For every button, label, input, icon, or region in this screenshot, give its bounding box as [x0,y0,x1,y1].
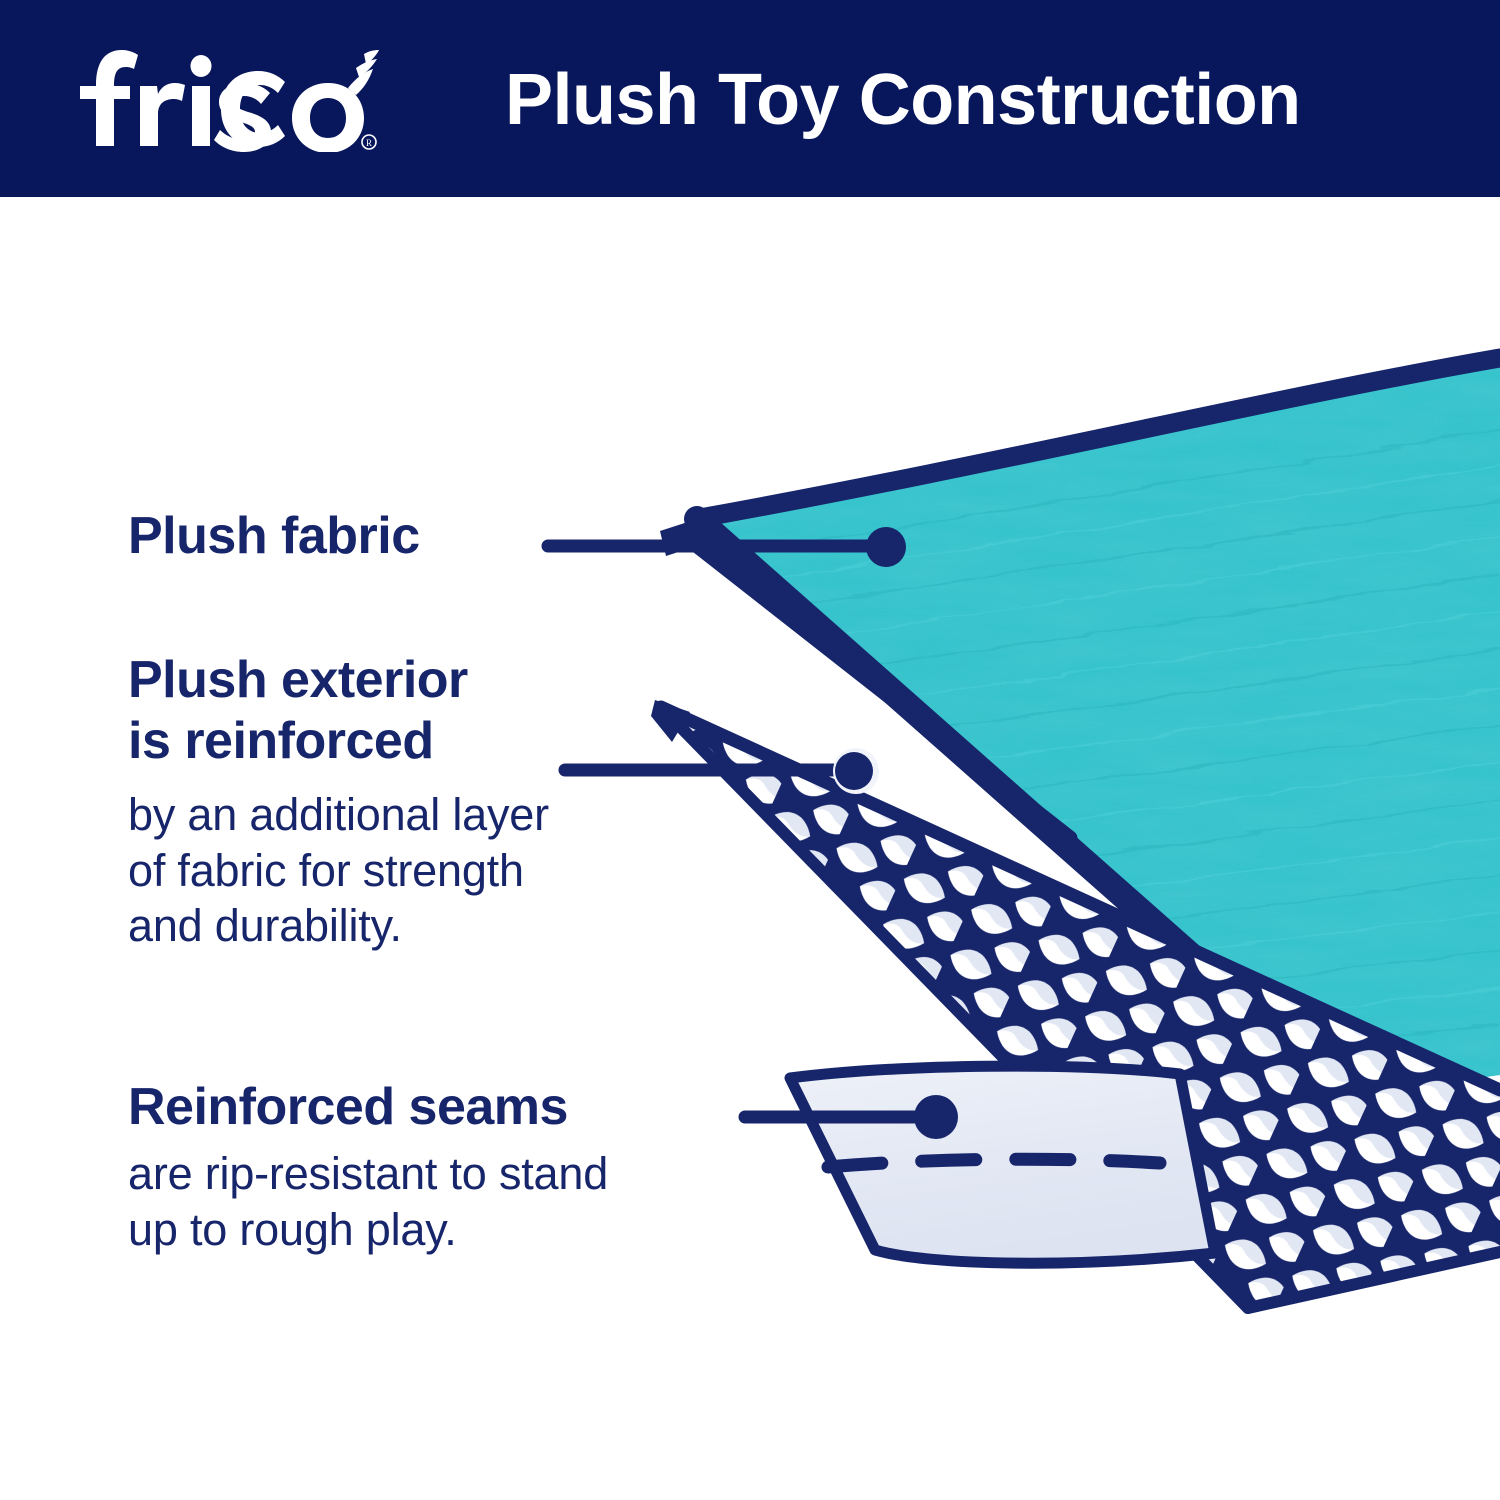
svg-text:R: R [366,138,372,148]
callout-plush-exterior-reinforced-heading: Plush exterior is reinforced [128,650,549,773]
leader-lines [548,527,958,1139]
callout-plush-exterior-reinforced: Plush exterior is reinforced by an addit… [128,650,549,954]
plush-fabric-teal-panel [660,350,1500,1110]
marker-dot-plush-fabric [866,527,906,567]
marker-ring-reinforced [833,748,879,794]
callout-plush-fabric-heading: Plush fabric [128,506,420,567]
reinforcement-mesh-band [600,650,1500,1370]
page-title: Plush Toy Construction [505,50,1301,150]
frisco-logo: R [72,42,382,152]
callout-plush-fabric: Plush fabric [128,506,420,567]
seam-flap [790,1066,1215,1263]
callout-plush-exterior-reinforced-body: by an additional layer of fabric for str… [128,787,549,954]
stitch-dashes [828,1159,1160,1167]
marker-dot-reinforced [835,752,873,790]
callout-reinforced-seams: Reinforced seams are rip-resistant to st… [128,1077,608,1258]
callout-reinforced-seams-body: are rip-resistant to stand up to rough p… [128,1146,608,1258]
infographic-page: R Plush Toy Construction [0,0,1500,1500]
callout-reinforced-seams-heading: Reinforced seams [128,1077,608,1138]
registered-trademark-icon: R [362,135,376,149]
header-bar: R Plush Toy Construction [0,0,1500,197]
marker-dot-seams [914,1095,958,1139]
